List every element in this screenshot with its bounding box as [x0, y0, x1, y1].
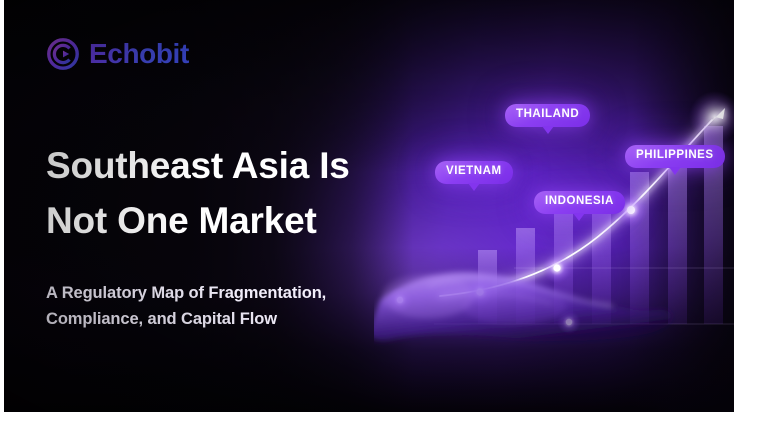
background-vignette [4, 0, 734, 412]
screenshot-canvas: Echobit Southeast Asia Is Not One Market… [0, 0, 768, 421]
hero-banner: Echobit Southeast Asia Is Not One Market… [4, 0, 734, 412]
